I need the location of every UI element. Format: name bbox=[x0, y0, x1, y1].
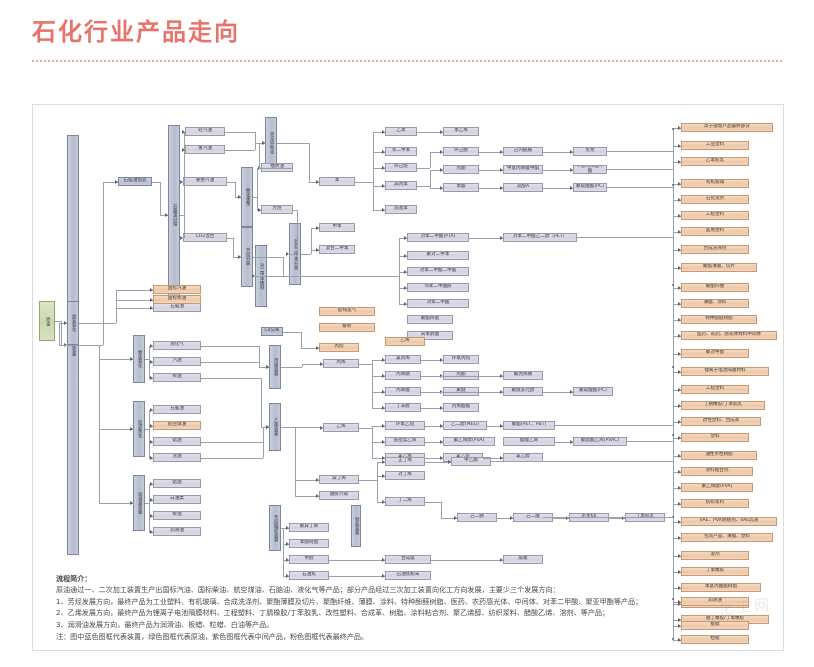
flow-connector bbox=[255, 132, 256, 143]
flow-connector bbox=[543, 392, 573, 393]
flow-connector bbox=[152, 182, 160, 183]
flow-connector bbox=[253, 257, 283, 258]
flow-arrowhead bbox=[678, 554, 681, 558]
flow-arrowhead bbox=[570, 168, 573, 172]
flow-node-m2: 重汽油 bbox=[185, 145, 225, 154]
flow-node-f15: 锂离子电池隔膜材料 bbox=[681, 367, 769, 376]
flow-connector bbox=[283, 528, 284, 576]
flow-arrowhead bbox=[150, 514, 153, 518]
flow-node-label: 聚乙烯醇(PVA) bbox=[702, 485, 733, 490]
flow-node-u_eth: 乙烯装置 bbox=[269, 403, 281, 451]
flow-node-m13: 异丙苯 bbox=[385, 181, 417, 190]
page-root: 石化行业产品走向 原油常减压装置石脑油加氢石脑油分馏催化重整芳烃分离完全异构化混… bbox=[0, 0, 814, 667]
flow-connector bbox=[373, 182, 374, 210]
flow-node-u_gas: 制氢装置 bbox=[351, 505, 361, 547]
flow-arrowhead bbox=[150, 288, 153, 292]
flow-connector bbox=[259, 143, 260, 168]
flow-node-label: 合成氨 bbox=[401, 557, 415, 562]
flow-arrowhead bbox=[238, 255, 241, 259]
flow-node-label: 石脑油分馏 bbox=[172, 204, 176, 226]
flow-node-m45: 聚醚多元醇 bbox=[503, 387, 543, 396]
flow-node-label: 苯酚树脂 bbox=[300, 541, 318, 546]
flow-connector bbox=[99, 359, 133, 360]
flow-node-u_arom2: 芳烃抽提装置 bbox=[269, 505, 281, 551]
flow-node-label: 提纯氢气 bbox=[338, 309, 356, 314]
flow-connector bbox=[149, 429, 150, 458]
flow-node-m50: 聚酯(PET、PBT) bbox=[503, 421, 555, 430]
flow-connector bbox=[289, 254, 297, 255]
flow-node-u_hydro: 石脑油加氢 bbox=[118, 177, 152, 186]
flow-node-label: 溶剂 bbox=[710, 553, 719, 558]
flow-node-m38: 丙烯腈 bbox=[385, 371, 421, 380]
flow-connector bbox=[431, 560, 503, 561]
flow-node-u_hyd2: 加氢裂化 bbox=[67, 301, 79, 345]
flow-connector bbox=[627, 441, 673, 442]
flow-node-label: 轻汽油 bbox=[198, 129, 212, 134]
flow-arrowhead bbox=[286, 526, 289, 530]
page-title: 石化行业产品走向 bbox=[32, 12, 240, 47]
flow-connector bbox=[469, 238, 503, 239]
flow-node-u_coke: 延迟焦化 bbox=[133, 401, 145, 457]
flow-node-m82: 白油类 bbox=[153, 495, 201, 504]
flow-node-label: 包装产品、薄膜、塑料 bbox=[704, 535, 750, 540]
flow-arrowhead bbox=[316, 248, 319, 252]
flow-node-u_lube: 润滑油装置 bbox=[133, 475, 145, 531]
flow-node-f14: 聚对甲醛 bbox=[681, 349, 749, 358]
flow-node-f21: 涂料粘合剂 bbox=[681, 467, 753, 476]
flow-node-f6: 工程塑料 bbox=[681, 211, 749, 220]
flow-arrowhead bbox=[678, 486, 681, 490]
flow-arrowhead bbox=[316, 494, 319, 498]
flow-arrowhead bbox=[382, 390, 385, 394]
flow-node-label: 环氧丙烷 bbox=[452, 357, 470, 362]
flow-connector bbox=[555, 425, 673, 426]
flow-node-label: 乙烯 bbox=[400, 339, 409, 344]
flow-node-label: 异丁烯 bbox=[332, 477, 346, 482]
flow-connector bbox=[79, 345, 99, 346]
flow-arrowhead bbox=[382, 184, 385, 188]
flow-arrowhead bbox=[150, 360, 153, 364]
flow-arrowhead bbox=[678, 248, 681, 252]
flow-node-u_iso: 完全异构化 bbox=[265, 117, 277, 169]
flow-node-label: 国标汽油 bbox=[168, 287, 186, 292]
flow-node-m57: 聚醋酸乙烯(PVAC) bbox=[573, 437, 627, 446]
flow-arrowhead bbox=[678, 520, 681, 524]
flow-node-label: 尼龙 bbox=[585, 149, 594, 154]
flow-node-label: 乙二醇(MEG) bbox=[451, 423, 479, 428]
flow-node-label: 乙苯胶乳 bbox=[706, 159, 724, 164]
flow-arrowhead bbox=[678, 352, 681, 356]
flow-node-label: 汽油 bbox=[172, 359, 181, 364]
flow-connector bbox=[184, 215, 185, 238]
flow-arrowhead bbox=[500, 236, 503, 240]
flow-arrowhead bbox=[678, 198, 681, 202]
flow-arrowhead bbox=[115, 180, 118, 184]
flow-node-label: 环氧乙烷 bbox=[396, 423, 414, 428]
flow-connector bbox=[257, 168, 258, 197]
flow-node-label: 甲基丙烯酸甲酯 bbox=[575, 165, 605, 174]
flow-node-label: 顺酐六碳 bbox=[330, 493, 348, 498]
flow-connector bbox=[301, 254, 311, 255]
flow-arrowhead bbox=[180, 236, 183, 240]
flow-node-f3: 乙苯胶乳 bbox=[681, 157, 749, 166]
flow-node-u_split: 石脑油分馏 bbox=[168, 125, 180, 305]
flow-node-f8: 合成洗涤剂 bbox=[681, 245, 749, 254]
flow-node-label: 聚异丁烯 bbox=[300, 525, 318, 530]
flow-node-f24: VAE、PVA防粘剂、VAE乳液 bbox=[681, 517, 777, 526]
flow-arrowhead bbox=[262, 141, 265, 145]
flow-arrowhead bbox=[382, 208, 385, 212]
flow-connector bbox=[430, 152, 431, 168]
flow-node-m77: 柴油 bbox=[153, 373, 201, 382]
flow-node-m75: 液化气 bbox=[153, 341, 201, 350]
flow-node-label: 聚酯树脂 bbox=[421, 317, 439, 322]
flow-connector bbox=[673, 129, 674, 639]
flow-arrowhead bbox=[182, 130, 185, 134]
flow-node-label: 丙酮 bbox=[456, 167, 465, 172]
flow-connector bbox=[543, 188, 573, 189]
flow-connector bbox=[227, 182, 235, 183]
flow-node-label: 甲醇 bbox=[304, 557, 313, 562]
flow-arrowhead bbox=[316, 226, 319, 230]
flow-node-label: 苯 bbox=[335, 179, 340, 184]
flow-node-label: 石化溶剂 bbox=[706, 197, 724, 202]
flow-node-m37: 环氧丙烷 bbox=[443, 355, 479, 364]
flow-node-label: 聚对二甲苯 bbox=[427, 253, 450, 258]
flow-connector bbox=[491, 461, 673, 462]
flow-node-f12: 特种酚醛树脂 bbox=[681, 315, 757, 324]
flow-arrowhead bbox=[316, 180, 319, 184]
flow-arrowhead bbox=[678, 470, 681, 474]
flow-node-f38: 解析 bbox=[319, 323, 375, 332]
flow-node-m42: 丁辛醇 bbox=[385, 403, 421, 412]
flow-arrowhead bbox=[150, 344, 153, 348]
flow-node-label: 改性塑料、合成革 bbox=[703, 419, 740, 424]
flow-node-label: 重汽油 bbox=[198, 147, 212, 152]
flow-connector bbox=[261, 378, 262, 427]
flow-node-m44: 聚丙烯腈 bbox=[503, 371, 543, 380]
flow-connector bbox=[259, 168, 293, 169]
flow-node-m85: 石脑油 bbox=[153, 303, 201, 312]
flow-connector bbox=[225, 150, 255, 151]
flow-node-m23: 甲基丙烯酸甲酯 bbox=[573, 165, 607, 174]
flow-arrowhead bbox=[382, 406, 385, 410]
flow-node-label: 乙烯装置 bbox=[273, 418, 277, 436]
flow-arrowhead bbox=[500, 456, 503, 460]
flow-node-f23: 纺织浆料 bbox=[681, 499, 749, 508]
flow-node-label: 石脑油加氢 bbox=[124, 179, 147, 184]
flow-arrowhead bbox=[165, 213, 168, 217]
flow-node-label: VAE、PVA防粘剂、VAE乳液 bbox=[700, 519, 759, 524]
flow-arrowhead bbox=[440, 456, 443, 460]
flow-arrowhead bbox=[382, 130, 385, 134]
flow-node-label: 聚对甲醛 bbox=[706, 351, 724, 356]
flow-node-label: 柴油 bbox=[172, 513, 181, 518]
flow-node-f2: 工业塑料 bbox=[681, 141, 749, 150]
flow-connector bbox=[281, 367, 302, 368]
flow-arrowhead bbox=[404, 236, 407, 240]
flow-connector bbox=[201, 458, 263, 459]
flow-node-label: 己二酸 bbox=[526, 515, 540, 520]
flow-node-m30: 对苯二甲酸 bbox=[407, 299, 469, 308]
flow-node-label: 石脑油 bbox=[170, 407, 184, 412]
flow-arrowhead bbox=[440, 186, 443, 190]
flow-connector bbox=[225, 132, 255, 133]
flow-node-label: 丁腈橡胶/丁苯胶乳 bbox=[704, 403, 742, 408]
flow-node-label: 己二腈 bbox=[470, 515, 484, 520]
flow-arrowhead bbox=[500, 168, 503, 172]
flow-node-label: 对苯二甲酸乙二醇（PET） bbox=[513, 235, 567, 240]
flow-arrowhead bbox=[570, 150, 573, 154]
flow-connector bbox=[355, 182, 373, 183]
flow-node-label: 锂离子电池隔膜材料 bbox=[704, 369, 745, 374]
flow-node-m48: 环氧乙烷 bbox=[385, 421, 425, 430]
flow-connector bbox=[425, 502, 441, 503]
flow-node-m17: 丙酮 bbox=[443, 165, 479, 174]
flow-arrowhead bbox=[382, 558, 385, 562]
flow-node-label: 工业塑料 bbox=[706, 143, 724, 148]
flow-node-f13: 医药、农药、感光体材料中间体 bbox=[681, 331, 777, 340]
flow-node-m19: 己内酰胺 bbox=[503, 147, 543, 156]
title-divider bbox=[32, 60, 782, 62]
flow-arrowhead bbox=[440, 440, 443, 444]
flow-arrowhead bbox=[678, 404, 681, 408]
flow-arrowhead bbox=[382, 500, 385, 504]
flow-node-m6: 芳烃 bbox=[261, 205, 293, 214]
flow-arrowhead bbox=[150, 498, 153, 502]
flow-connector bbox=[201, 346, 259, 347]
flow-arrowhead bbox=[500, 374, 503, 378]
flow-node-m9: 混合二甲苯 bbox=[319, 245, 355, 254]
flow-node-label: 丙烯 bbox=[336, 361, 345, 366]
flow-connector bbox=[99, 429, 133, 430]
flow-node-u_c4: C4分离 bbox=[261, 327, 283, 336]
flow-connector bbox=[149, 346, 150, 359]
flow-arrowhead bbox=[678, 286, 681, 290]
flow-arrowhead bbox=[678, 388, 681, 392]
flow-node-label: C4分离 bbox=[264, 329, 279, 334]
flow-arrowhead bbox=[316, 478, 319, 482]
flow-node-label: 芳烃 bbox=[272, 207, 281, 212]
flow-node-m64: 己二腈 bbox=[457, 513, 497, 522]
flow-arrowhead bbox=[678, 370, 681, 374]
flow-node-label: 航空煤油 bbox=[168, 423, 186, 428]
flow-connector bbox=[160, 182, 161, 215]
flow-node-m24: 聚碳酸酯(PC) bbox=[573, 183, 607, 192]
flow-node-label: 涂料粘合剂 bbox=[706, 469, 729, 474]
flow-node-label: 氯丙烯 bbox=[396, 357, 410, 362]
flow-node-label: 液化气 bbox=[170, 343, 184, 348]
flow-connector bbox=[116, 300, 117, 323]
flow-node-m12: 环己烷 bbox=[385, 163, 417, 172]
flow-arrowhead bbox=[150, 408, 153, 412]
flow-connector bbox=[295, 427, 296, 496]
flow-node-f22: 聚乙烯醇(PVA) bbox=[681, 483, 753, 492]
flow-connector bbox=[263, 427, 264, 458]
flow-node-label: 完全异构化 bbox=[269, 132, 273, 154]
diagram-legend: 流程简介： 原油通过一、二次加工装置生产出国标汽油、国标柴油、航空煤油、石脑油、… bbox=[56, 573, 786, 643]
flow-node-label: 环己烷 bbox=[394, 165, 408, 170]
flow-node-m43: 丙烯酸酯 bbox=[443, 403, 479, 412]
flow-arrowhead bbox=[382, 460, 385, 464]
flow-node-label: 润滑油装置 bbox=[137, 492, 141, 514]
flow-connector bbox=[281, 427, 295, 428]
flow-arrowhead bbox=[130, 357, 133, 361]
flow-node-label: 双酚A bbox=[517, 185, 529, 190]
flow-connector bbox=[297, 210, 298, 254]
flow-node-label: 丙烯装置 bbox=[273, 358, 277, 376]
flow-arrowhead bbox=[130, 427, 133, 431]
flow-node-m7: 苯 bbox=[319, 177, 355, 186]
flow-arrowhead bbox=[404, 270, 407, 274]
flow-node-m68: 聚异丁烯 bbox=[289, 523, 329, 532]
flow-node-label: 渣油 bbox=[172, 455, 181, 460]
flow-arrowhead bbox=[678, 454, 681, 458]
flow-node-m20: 甲基丙烯酸甲酯 bbox=[503, 165, 543, 174]
flow-arrowhead bbox=[182, 148, 185, 152]
flow-node-label: 催化裂化 bbox=[137, 350, 141, 368]
flow-connector bbox=[359, 428, 372, 429]
flow-node-m61: 正丁烯 bbox=[385, 457, 425, 466]
flow-arrowhead bbox=[150, 482, 153, 486]
flow-connector bbox=[59, 345, 79, 346]
flow-arrowhead bbox=[130, 501, 133, 505]
flow-arrowhead bbox=[448, 460, 451, 464]
flow-node-label: 丙烯腈 bbox=[396, 373, 410, 378]
flow-node-f18: 改性塑料、合成革 bbox=[681, 417, 761, 426]
legend-line-3: 3、润滑油发展方向，最终产品为润滑油、板蜡、粒蜡、白油等产品。 bbox=[56, 619, 786, 630]
flow-node-f10: 聚酯纤维 bbox=[681, 283, 749, 292]
flow-node-f1: 高于层馏产品最终部分 bbox=[681, 123, 773, 132]
flow-connector bbox=[116, 290, 153, 291]
flow-node-f35: 国标柴油 bbox=[153, 295, 201, 304]
flow-connector bbox=[255, 143, 256, 150]
flow-node-m47: 乙烯 bbox=[323, 423, 359, 432]
flow-node-m27: 聚对二甲苯 bbox=[407, 251, 469, 260]
flow-node-f26: 溶剂 bbox=[681, 551, 749, 560]
flow-node-label: 丁二烯 bbox=[398, 499, 412, 504]
flow-connector bbox=[607, 187, 673, 188]
flow-connector bbox=[372, 428, 373, 458]
flow-node-label: 聚丙烯腈 bbox=[514, 373, 532, 378]
flow-node-m40: 丙烯酸 bbox=[385, 387, 421, 396]
flow-connector bbox=[665, 517, 673, 518]
flow-connector bbox=[373, 152, 374, 182]
flow-node-label: 油性水性树脂 bbox=[705, 453, 733, 458]
flow-arrowhead bbox=[500, 424, 503, 428]
flow-node-label: 丙烯酸酯 bbox=[452, 405, 470, 410]
flow-node-f20: 油性水性树脂 bbox=[681, 451, 757, 460]
flow-connector bbox=[441, 502, 442, 518]
flow-arrowhead bbox=[252, 274, 255, 278]
flow-node-label: 聚酯薄膜、切片 bbox=[703, 265, 735, 270]
flow-node-f16: 工程塑料 bbox=[681, 385, 749, 394]
flow-node-label: 邻苯二甲酸酐 bbox=[424, 285, 452, 290]
flow-arrowhead bbox=[238, 195, 241, 199]
flow-node-label: 蜡油 bbox=[172, 439, 181, 444]
flow-node-label: 塑料 bbox=[710, 435, 719, 440]
flow-node-m22: 尼龙 bbox=[573, 147, 607, 156]
flow-node-label: 低密度乙烯 bbox=[394, 439, 417, 444]
flow-node-m8: 甲苯 bbox=[319, 223, 355, 232]
flow-node-label: 己内酰胺 bbox=[514, 149, 532, 154]
flow-node-label: 柴油 bbox=[172, 375, 181, 380]
flow-node-label: 丙烷 bbox=[334, 345, 343, 350]
flow-node-s1: 原油 bbox=[39, 301, 55, 341]
flow-node-f25: 包装产品、薄膜、塑料 bbox=[681, 533, 773, 542]
flow-node-m25: 对苯二甲酸(PTA) bbox=[407, 233, 469, 242]
flow-connector bbox=[99, 345, 100, 503]
flow-node-label: 白油类 bbox=[170, 497, 184, 502]
flow-node-label: 聚碳酸酯(PC) bbox=[576, 185, 604, 190]
flow-node-label: 聚醚多元醇 bbox=[512, 389, 535, 394]
flow-node-label: 薄膜、涂料 bbox=[704, 301, 727, 306]
flow-connector bbox=[421, 376, 503, 377]
flow-node-m84: 润滑油 bbox=[153, 527, 201, 536]
flow-node-m35: 丙烯 bbox=[323, 359, 359, 368]
flow-connector bbox=[421, 392, 503, 393]
flow-node-m56: 醋酸乙烯 bbox=[503, 437, 555, 446]
flow-arrowhead bbox=[286, 252, 289, 256]
flow-node-f5: 石化溶剂 bbox=[681, 195, 749, 204]
flow-node-label: 加氢裂化 bbox=[71, 314, 75, 332]
flow-arrowhead bbox=[678, 144, 681, 148]
flow-node-label: 苯酚 bbox=[456, 185, 465, 190]
flow-node-label: 甲基丙烯酸甲酯 bbox=[507, 167, 539, 172]
flow-connector bbox=[267, 276, 399, 277]
flow-arrowhead bbox=[500, 186, 503, 190]
flow-arrowhead bbox=[404, 286, 407, 290]
flow-connector bbox=[61, 321, 62, 345]
flow-connector bbox=[301, 332, 302, 348]
flow-node-m15: 苯乙烯 bbox=[443, 127, 479, 136]
flow-node-label: CH2混合 bbox=[196, 235, 215, 240]
flow-node-label: 对丁烯 bbox=[398, 473, 412, 478]
flow-arrowhead bbox=[150, 456, 153, 460]
flow-arrowhead bbox=[316, 346, 319, 350]
flow-node-f7: 医用塑料 bbox=[681, 227, 749, 236]
flow-arrowhead bbox=[382, 358, 385, 362]
flow-node-m49: 乙二醇(MEG) bbox=[443, 421, 487, 430]
flow-connector bbox=[309, 143, 310, 182]
flow-arrowhead bbox=[500, 150, 503, 154]
flow-arrowhead bbox=[382, 474, 385, 478]
flow-connector bbox=[99, 503, 133, 504]
flow-node-m78: 石脑油 bbox=[153, 405, 201, 414]
flow-arrowhead bbox=[678, 214, 681, 218]
flow-arrowhead bbox=[150, 298, 153, 302]
flow-connector bbox=[359, 364, 372, 365]
flow-arrowhead bbox=[440, 168, 443, 172]
flow-arrowhead bbox=[678, 334, 681, 338]
flow-node-label: 工程塑料 bbox=[706, 387, 724, 392]
flow-arrowhead bbox=[678, 502, 681, 506]
flow-connector bbox=[116, 300, 153, 301]
flow-arrowhead bbox=[570, 390, 573, 394]
flow-arrowhead bbox=[382, 166, 385, 170]
flow-node-m52: 聚乙烯醇(PVA) bbox=[443, 437, 495, 446]
flow-arrowhead bbox=[678, 266, 681, 270]
flow-node-m76: 汽油 bbox=[153, 357, 201, 366]
flow-node-label: 对苯二甲酸 bbox=[427, 301, 450, 306]
flow-connector bbox=[201, 362, 259, 363]
flow-node-label: 聚醋酸乙烯(PVAC) bbox=[581, 439, 619, 444]
flow-connector bbox=[607, 151, 673, 152]
flow-node-label: 合成洗涤剂 bbox=[704, 247, 727, 252]
flow-node-label: 石脑油 bbox=[170, 305, 184, 310]
flow-connector bbox=[399, 276, 400, 304]
flow-arrowhead bbox=[150, 306, 153, 310]
